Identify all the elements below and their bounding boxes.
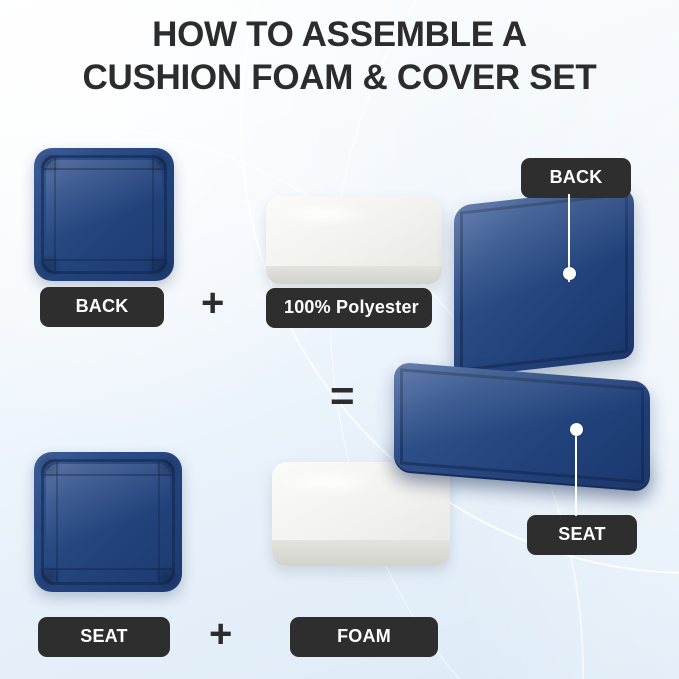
foam-front-edge bbox=[272, 540, 450, 566]
operator-plus-top: + bbox=[201, 283, 224, 323]
cover-left-seam bbox=[56, 462, 58, 582]
cover-sheen bbox=[46, 160, 162, 269]
cover-corner-tl bbox=[36, 454, 62, 480]
callout-dot-seat bbox=[570, 423, 583, 436]
callout-dot-back bbox=[563, 267, 576, 280]
cover-corner-bl bbox=[36, 564, 62, 590]
cover-sheen bbox=[46, 464, 170, 580]
cover-corner-br bbox=[154, 564, 180, 590]
cover-bottom-seam bbox=[44, 568, 172, 570]
assembly-back-cushion bbox=[454, 186, 634, 379]
cover-top-seam bbox=[44, 474, 172, 476]
assembled-cushion-set bbox=[388, 196, 654, 496]
cover-corner-br bbox=[146, 253, 172, 279]
foam-highlight bbox=[274, 202, 371, 227]
title-line-2: CUSHION FOAM & COVER SET bbox=[0, 57, 679, 100]
callout-label-seat: SEAT bbox=[527, 515, 637, 555]
cover-corner-tr bbox=[146, 150, 172, 176]
assembly-back-gloss bbox=[454, 186, 634, 379]
cover-corner-bl bbox=[36, 253, 62, 279]
infographic-canvas: HOW TO ASSEMBLE A CUSHION FOAM & COVER S… bbox=[0, 0, 679, 679]
back-cushion-cover bbox=[34, 148, 174, 281]
operator-equals: = bbox=[330, 372, 355, 420]
cover-corner-tr bbox=[154, 454, 180, 480]
title-line-1: HOW TO ASSEMBLE A bbox=[0, 14, 679, 57]
foam-highlight bbox=[280, 468, 378, 497]
seat-cushion-cover bbox=[34, 452, 182, 592]
assembly-seat-gloss bbox=[394, 362, 650, 490]
label-foam: FOAM bbox=[290, 617, 438, 657]
label-back-cover: BACK bbox=[40, 287, 164, 327]
callout-label-back: BACK bbox=[521, 158, 631, 198]
cover-right-seam bbox=[158, 462, 160, 582]
label-seat-cover: SEAT bbox=[38, 617, 170, 657]
page-title: HOW TO ASSEMBLE A CUSHION FOAM & COVER S… bbox=[0, 14, 679, 99]
assembly-seat-cushion bbox=[394, 362, 650, 490]
callout-leader-seat bbox=[575, 436, 577, 516]
cover-top-seam bbox=[44, 168, 164, 170]
operator-plus-bottom: + bbox=[209, 614, 232, 654]
cover-corner-tl bbox=[36, 150, 62, 176]
